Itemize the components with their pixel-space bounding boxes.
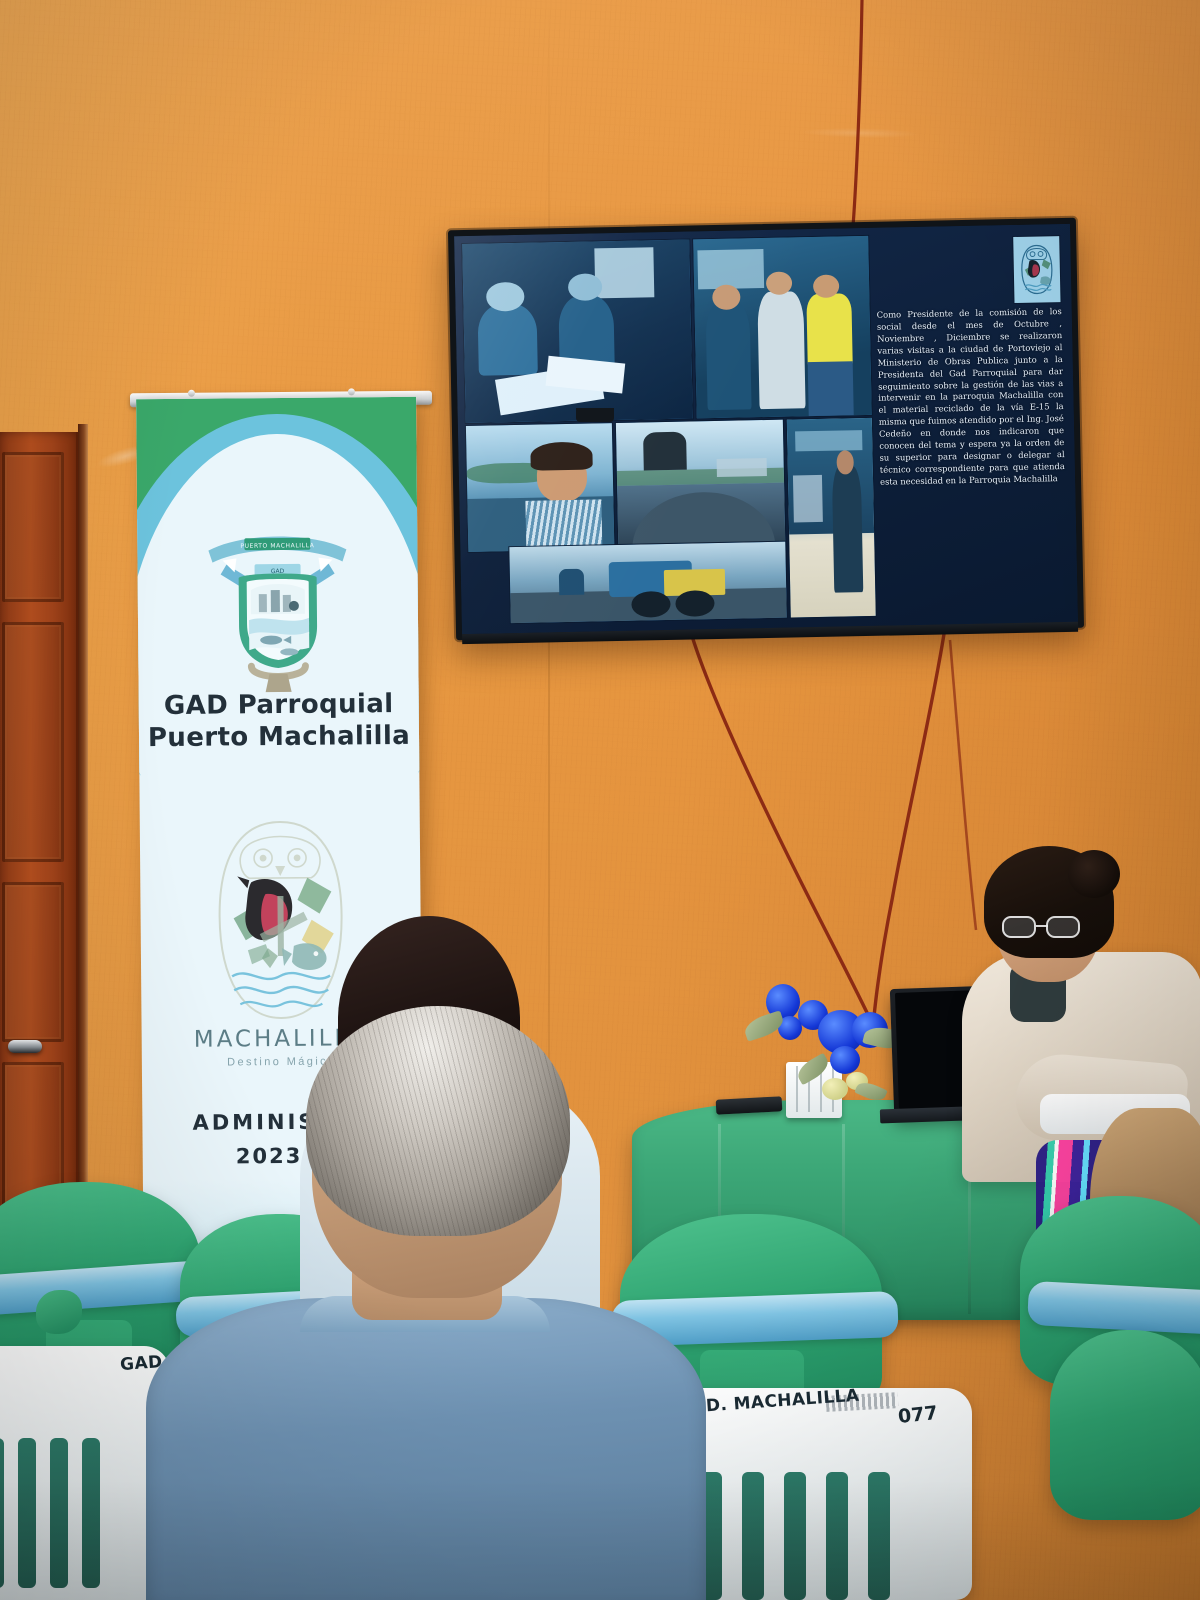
door-panel [2, 622, 64, 862]
photo-office-interior [787, 418, 876, 617]
banner-title-line1: GAD Parroquial [139, 689, 419, 723]
coat-of-arms: PUERTO MACHALILLA GAD [192, 515, 364, 699]
chair-sash-knot [36, 1290, 82, 1334]
chair-back[interactable] [0, 1346, 170, 1600]
rail-pin [348, 388, 355, 395]
door-panel [2, 882, 64, 1042]
machalilla-logo [207, 815, 355, 1031]
glasses-bridge [1036, 925, 1048, 927]
presentation-room-photo: PUERTO MACHALILLA GAD [0, 0, 1200, 1600]
slide-text-panel: Como Presidente de la comisión de los so… [873, 232, 1072, 616]
slide-photo-grid [462, 236, 876, 624]
banner-title: GAD Parroquial Puerto Machalilla [139, 689, 420, 755]
rail-pin [188, 390, 195, 397]
photo-road-material [616, 420, 785, 549]
tv-screen: Como Presidente de la comisión de los so… [454, 224, 1078, 634]
chair-green-cover [1050, 1330, 1200, 1520]
wall-mounted-tv[interactable]: Como Presidente de la comisión de los so… [448, 218, 1084, 641]
door-handle[interactable] [8, 1040, 42, 1053]
slide-body-text: Como Presidente de la comisión de los so… [877, 306, 1070, 610]
presentation-slide: Como Presidente de la comisión de los so… [454, 224, 1078, 634]
photo-group-three [694, 236, 872, 418]
door-frame [78, 424, 88, 1240]
banner-title-line2: Puerto Machalilla [139, 721, 419, 755]
door-panel [2, 452, 64, 602]
tv-wall-mount [576, 408, 614, 422]
glasses-lens-left [1002, 916, 1036, 938]
hair-texture [306, 1006, 570, 1236]
crest-ribbon-text: PUERTO MACHALILLA [240, 542, 314, 550]
host-hair-bun [1068, 850, 1120, 898]
glasses-lens-right [1046, 916, 1080, 938]
chair-number: 077 [897, 1402, 939, 1428]
wooden-door[interactable] [0, 432, 80, 1232]
photo-man-portrait [466, 423, 615, 551]
elderly-attendee-hair [306, 1006, 570, 1236]
elderly-attendee-shoulders [146, 1298, 706, 1600]
host-glasses [1002, 916, 1088, 938]
photo-office-meeting [462, 239, 693, 422]
photo-road-grader [509, 542, 787, 624]
machalilla-bird-logo [1013, 236, 1060, 303]
